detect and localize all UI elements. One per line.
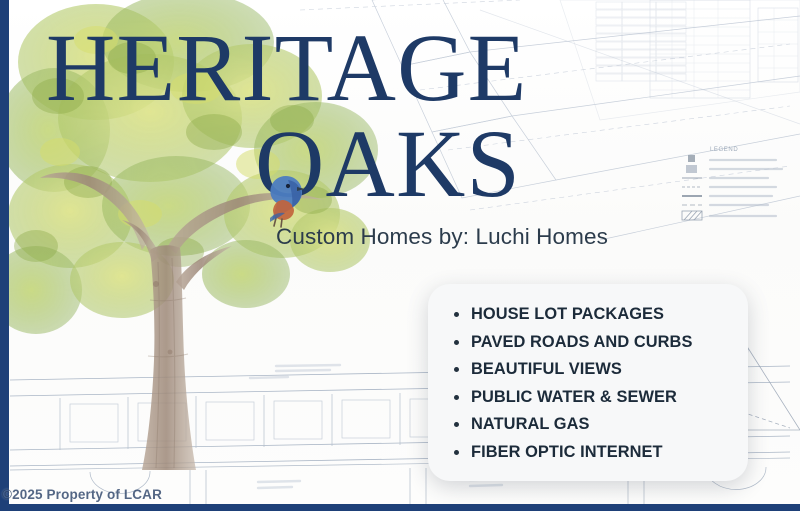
feature-item: BEAUTIFUL VIEWS xyxy=(454,356,730,384)
feature-label: PUBLIC WATER & SEWER xyxy=(471,388,677,407)
bluebird-icon xyxy=(252,160,314,232)
features-card: HOUSE LOT PACKAGES PAVED ROADS AND CURBS… xyxy=(428,284,748,481)
tagline: Custom Homes by: Luchi Homes xyxy=(276,224,608,250)
page-title-line-1: HERITAGE xyxy=(46,22,646,114)
feature-label: FIBER OPTIC INTERNET xyxy=(471,443,663,462)
bullet-icon xyxy=(454,340,459,345)
feature-label: NATURAL GAS xyxy=(471,415,590,434)
feature-item: PUBLIC WATER & SEWER xyxy=(454,384,730,412)
feature-label: HOUSE LOT PACKAGES xyxy=(471,305,664,324)
heritage-oaks-flyer: HERITAGE OAKS Custom Homes by: Luchi Hom… xyxy=(0,0,800,511)
feature-item: NATURAL GAS xyxy=(454,411,730,439)
bullet-icon xyxy=(454,422,459,427)
copyright-watermark: ©2025 Property of LCAR xyxy=(2,487,162,502)
bottom-navy-rail xyxy=(0,504,800,511)
title-block: HERITAGE OAKS xyxy=(46,22,646,210)
bullet-icon xyxy=(454,395,459,400)
feature-label: BEAUTIFUL VIEWS xyxy=(471,360,622,379)
plat-legend-box: LEGEND xyxy=(672,142,790,224)
bullet-icon xyxy=(454,312,459,317)
bullet-icon xyxy=(454,450,459,455)
left-navy-rail xyxy=(0,0,9,511)
feature-item: PAVED ROADS AND CURBS xyxy=(454,329,730,357)
bullet-icon xyxy=(454,367,459,372)
feature-item: FIBER OPTIC INTERNET xyxy=(454,439,730,467)
feature-label: PAVED ROADS AND CURBS xyxy=(471,333,692,352)
feature-item: HOUSE LOT PACKAGES xyxy=(454,301,730,329)
svg-text:LEGEND: LEGEND xyxy=(710,147,738,153)
